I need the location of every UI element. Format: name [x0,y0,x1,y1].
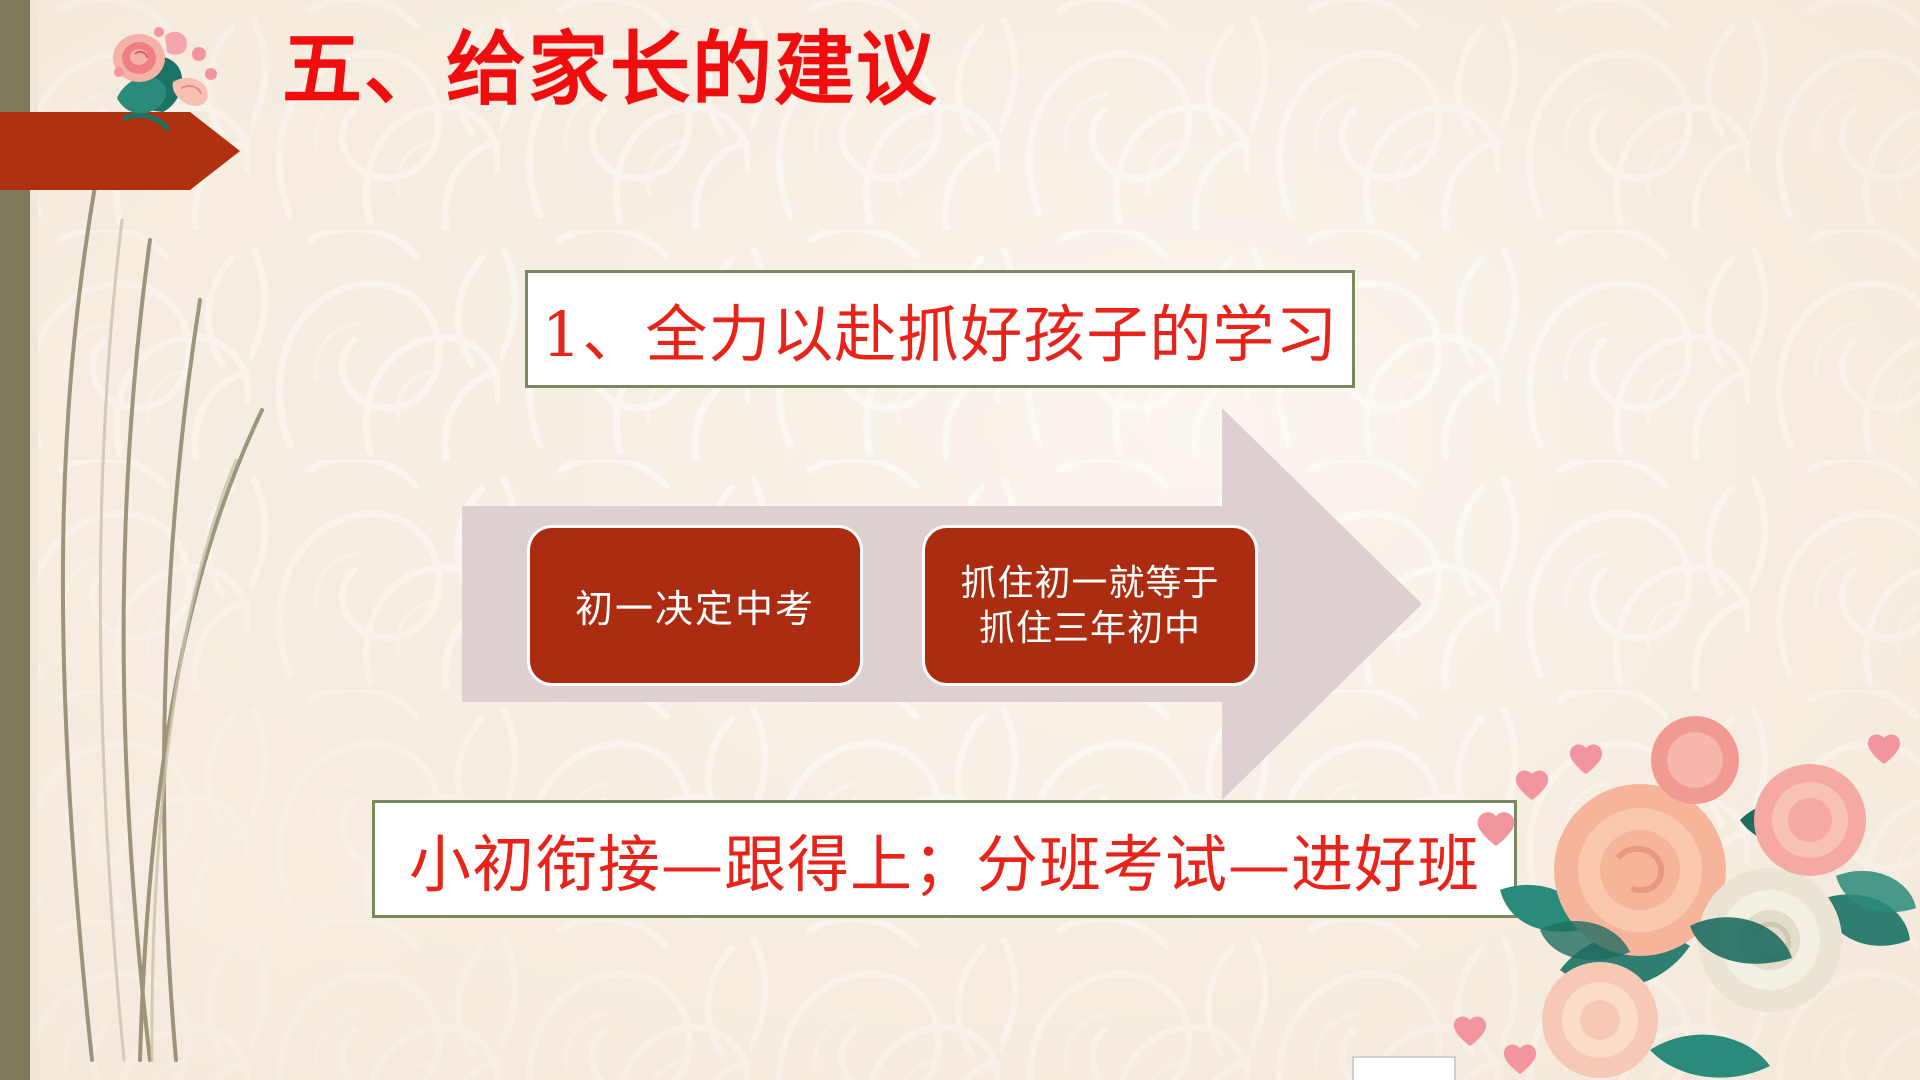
recommendation-box-2: 小初衔接—跟得上；分班考试—进好班 [372,800,1517,918]
key-point-pill-2-line-1: 抓住初一就等于 [960,561,1219,606]
key-point-pill-2-line-2: 抓住三年初中 [960,606,1219,651]
key-point-pill-1-line-1: 初一决定中考 [575,578,815,633]
recommendation-box-1-text: 1、全力以赴抓好孩子的学习 [542,284,1338,374]
rose-floral-cluster-icon [95,14,230,159]
key-point-pill-1[interactable]: 初一决定中考 [530,528,860,683]
rose-bouquet-icon [1440,640,1920,1080]
page-title: 五、给家长的建议 [282,28,938,112]
presentation-slide: 五、给家长的建议 1、全力以赴抓好孩子的学习 初一决定中考 抓住初一就等于 抓住… [0,0,1920,1080]
recommendation-box-1: 1、全力以赴抓好孩子的学习 [525,270,1355,388]
bottom-frame-corner [1352,1056,1456,1080]
key-point-pill-2[interactable]: 抓住初一就等于 抓住三年初中 [925,528,1255,683]
recommendation-box-2-text: 小初衔接—跟得上；分班考试—进好班 [409,814,1480,904]
